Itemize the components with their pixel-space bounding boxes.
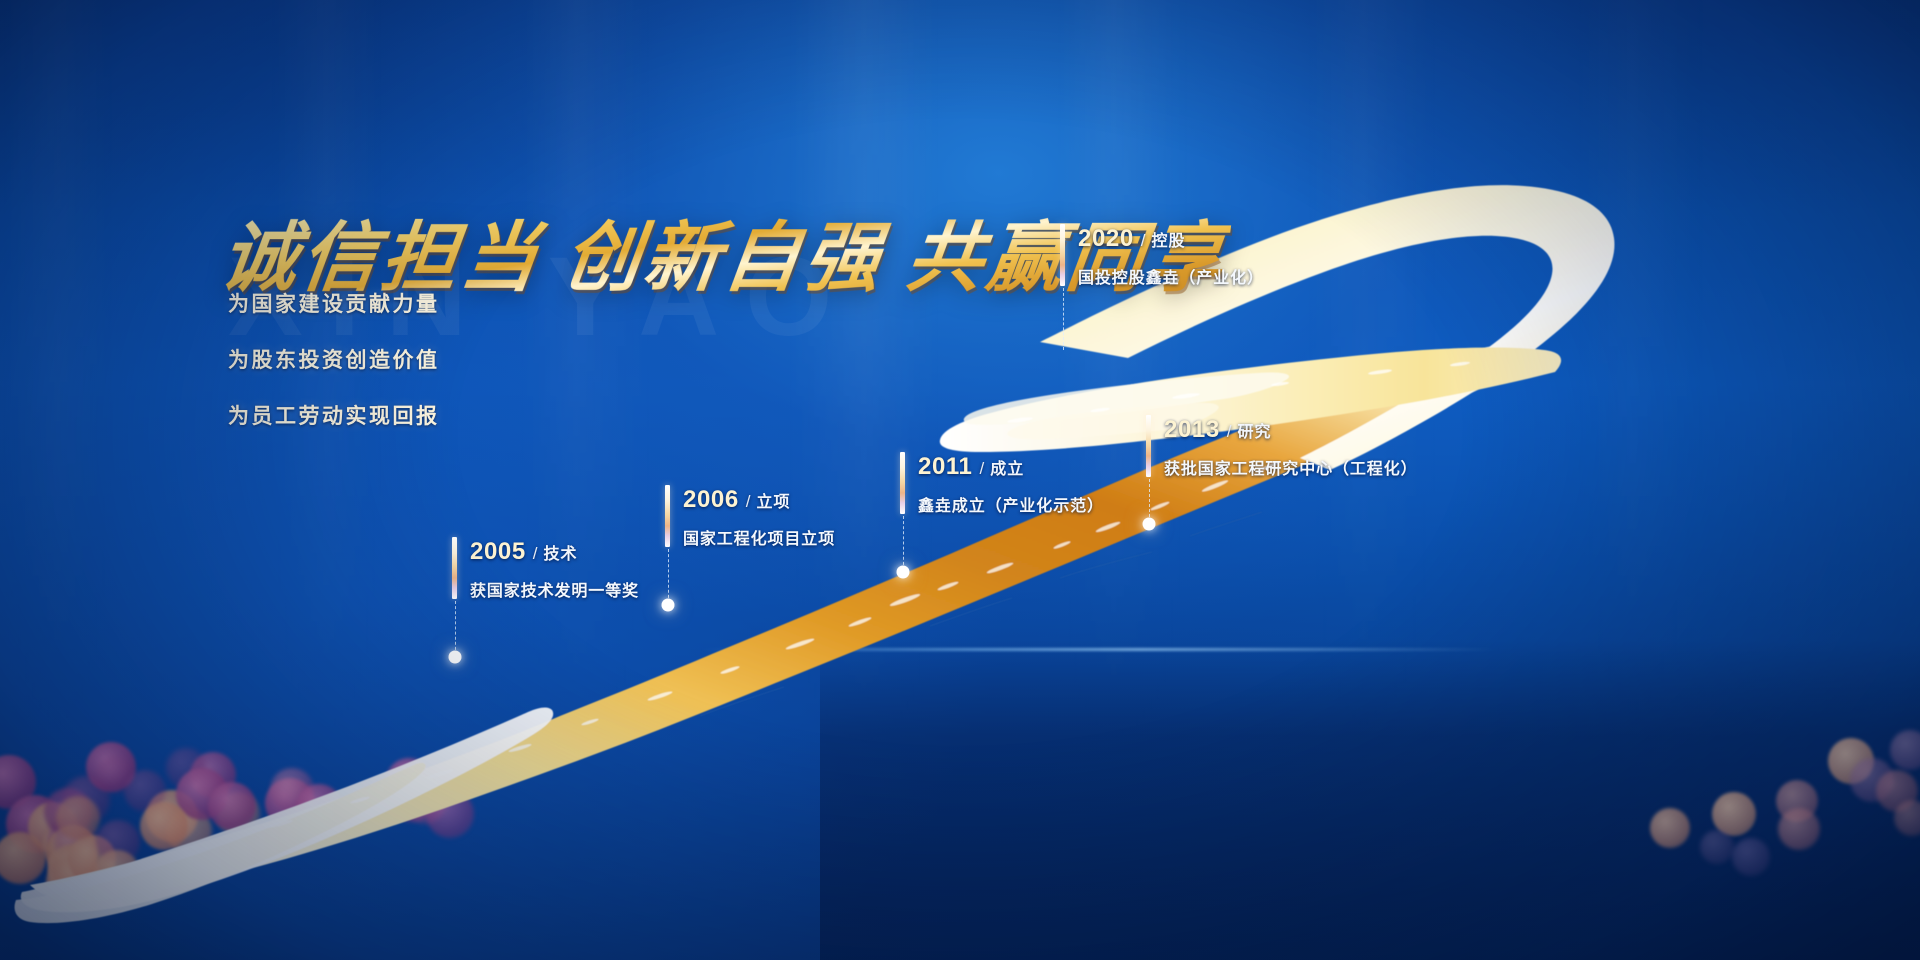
milestone-category: 技术 bbox=[544, 540, 578, 564]
milestone-accent-bar bbox=[900, 452, 905, 514]
milestone-separator: / bbox=[746, 492, 751, 512]
bokeh-circle bbox=[270, 768, 314, 812]
bokeh-circle bbox=[166, 748, 206, 788]
bokeh-circle bbox=[56, 796, 100, 840]
bokeh-circle bbox=[1876, 770, 1918, 812]
milestone-separator: / bbox=[533, 544, 538, 564]
milestone-category: 立项 bbox=[757, 488, 791, 512]
milestone-dot-2005[interactable] bbox=[449, 651, 462, 664]
milestone-2013[interactable]: 2013 / 研究 获批国家工程研究中心（工程化） bbox=[1146, 415, 1418, 479]
bokeh-circle bbox=[0, 755, 36, 809]
milestone-accent-bar bbox=[1060, 224, 1065, 286]
milestone-connector-2020 bbox=[1063, 288, 1064, 350]
bokeh-circle bbox=[1850, 758, 1894, 802]
milestone-text-block: 2005 / 技术 获国家技术发明一等奖 bbox=[470, 537, 639, 601]
bokeh-circle bbox=[190, 752, 236, 798]
bokeh-circle bbox=[96, 756, 134, 794]
bokeh-circle bbox=[96, 820, 140, 864]
milestone-description: 获批国家工程研究中心（工程化） bbox=[1164, 455, 1418, 479]
bokeh-circle bbox=[426, 790, 474, 838]
bokeh-circle bbox=[1778, 808, 1820, 850]
milestone-2005[interactable]: 2005 / 技术 获国家技术发明一等奖 bbox=[452, 537, 639, 601]
milestone-header: 2011 / 成立 鑫垚成立（产业化示范） bbox=[900, 452, 1104, 516]
bokeh-circle bbox=[1776, 780, 1818, 822]
bokeh-circle bbox=[46, 826, 98, 878]
milestone-year: 2011 bbox=[918, 453, 972, 481]
milestone-year-row: 2005 / 技术 bbox=[470, 538, 639, 566]
bokeh-circle bbox=[296, 784, 342, 830]
milestone-dot-2011[interactable] bbox=[897, 566, 910, 579]
bokeh-circle bbox=[265, 778, 315, 828]
milestone-text-block: 2006 / 立项 国家工程化项目立项 bbox=[683, 485, 835, 549]
milestone-connector-2005 bbox=[455, 601, 456, 655]
milestone-description: 国投控股鑫垚（产业化） bbox=[1078, 264, 1264, 288]
milestone-header: 2005 / 技术 获国家技术发明一等奖 bbox=[452, 537, 639, 601]
bokeh-circle bbox=[140, 802, 188, 850]
bokeh-circle bbox=[28, 802, 78, 852]
bokeh-circle bbox=[1890, 730, 1920, 770]
bokeh-circle bbox=[86, 742, 136, 792]
bokeh-circle bbox=[390, 778, 434, 822]
subtitle-line: 为股东投资创造价值 bbox=[228, 344, 440, 374]
milestone-category: 成立 bbox=[990, 455, 1024, 479]
bokeh-circle bbox=[1650, 808, 1690, 848]
milestone-2006[interactable]: 2006 / 立项 国家工程化项目立项 bbox=[665, 485, 835, 549]
bokeh-circle bbox=[6, 795, 64, 853]
bokeh-circle bbox=[68, 835, 116, 883]
milestone-separator: / bbox=[1227, 422, 1232, 442]
milestone-2020[interactable]: 2020 / 控股 国投控股鑫垚（产业化） bbox=[1060, 224, 1264, 288]
milestone-text-block: 2011 / 成立 鑫垚成立（产业化示范） bbox=[918, 452, 1104, 516]
milestone-year-row: 2013 / 研究 bbox=[1164, 416, 1418, 444]
bokeh-circle bbox=[54, 855, 100, 901]
bokeh-circle bbox=[176, 768, 228, 820]
milestone-year-row: 2011 / 成立 bbox=[918, 453, 1104, 481]
bokeh-circle bbox=[216, 792, 260, 836]
bokeh-circle bbox=[0, 832, 46, 884]
milestone-accent-bar bbox=[665, 485, 670, 547]
bokeh-circle bbox=[42, 822, 88, 868]
subtitle-line: 为国家建设贡献力量 bbox=[228, 288, 440, 318]
bokeh-circle bbox=[208, 782, 256, 830]
bokeh-circle bbox=[1712, 792, 1756, 836]
bokeh-circle bbox=[1894, 800, 1920, 836]
milestone-year: 2006 bbox=[683, 486, 739, 514]
milestone-year: 2020 bbox=[1078, 225, 1134, 253]
bokeh-circle bbox=[1732, 838, 1770, 876]
milestone-category: 研究 bbox=[1238, 418, 1272, 442]
bokeh-circle bbox=[54, 818, 98, 862]
milestone-description: 国家工程化项目立项 bbox=[683, 525, 835, 549]
bokeh-circle bbox=[1700, 830, 1734, 864]
milestone-connector-2006 bbox=[668, 549, 669, 603]
bokeh-circle bbox=[1828, 738, 1874, 784]
subtitle-list: 为国家建设贡献力量 为股东投资创造价值 为员工劳动实现回报 bbox=[228, 288, 440, 456]
bokeh-circle bbox=[94, 850, 140, 896]
milestone-header: 2020 / 控股 国投控股鑫垚（产业化） bbox=[1060, 224, 1264, 288]
milestone-separator: / bbox=[979, 459, 984, 479]
bokeh-circle bbox=[62, 776, 110, 824]
milestone-2011[interactable]: 2011 / 成立 鑫垚成立（产业化示范） bbox=[900, 452, 1104, 516]
bokeh-circle bbox=[46, 856, 98, 908]
milestone-accent-bar bbox=[452, 537, 457, 599]
bokeh-circle bbox=[386, 758, 432, 804]
background-dark-band bbox=[820, 640, 1920, 960]
bokeh-circle bbox=[146, 790, 198, 842]
horizon-glow-line bbox=[700, 648, 1500, 651]
milestone-dot-2013[interactable] bbox=[1143, 518, 1156, 531]
bokeh-circle bbox=[124, 770, 166, 812]
bokeh-circle bbox=[404, 782, 446, 824]
milestone-separator: / bbox=[1141, 231, 1146, 251]
poster-stage: XIN YAO 诚信担当 创新自强 共赢同享 为国家建设贡献力量 为股东投资创造… bbox=[0, 0, 1920, 960]
bokeh-circle bbox=[50, 825, 96, 871]
milestone-year-row: 2020 / 控股 bbox=[1078, 225, 1264, 253]
milestone-header: 2006 / 立项 国家工程化项目立项 bbox=[665, 485, 835, 549]
milestone-connector-2013 bbox=[1149, 479, 1150, 522]
milestone-description: 鑫垚成立（产业化示范） bbox=[918, 492, 1104, 516]
bokeh-circle bbox=[166, 808, 212, 854]
bokeh-circle bbox=[52, 845, 96, 889]
bokeh-circle bbox=[44, 788, 92, 836]
bokeh-circle bbox=[48, 840, 98, 890]
milestone-dot-2006[interactable] bbox=[662, 599, 675, 612]
milestone-year: 2005 bbox=[470, 538, 526, 566]
milestone-text-block: 2020 / 控股 国投控股鑫垚（产业化） bbox=[1078, 224, 1264, 288]
subtitle-line: 为员工劳动实现回报 bbox=[228, 400, 440, 430]
milestone-category: 控股 bbox=[1152, 227, 1186, 251]
milestone-year-row: 2006 / 立项 bbox=[683, 486, 835, 514]
milestone-text-block: 2013 / 研究 获批国家工程研究中心（工程化） bbox=[1164, 415, 1418, 479]
milestone-accent-bar bbox=[1146, 415, 1151, 477]
milestone-description: 获国家技术发明一等奖 bbox=[470, 577, 639, 601]
bokeh-circle bbox=[48, 818, 88, 858]
milestone-connector-2011 bbox=[903, 516, 904, 570]
milestone-header: 2013 / 研究 获批国家工程研究中心（工程化） bbox=[1146, 415, 1418, 479]
bokeh-circle bbox=[48, 845, 94, 891]
bokeh-circle bbox=[48, 862, 96, 910]
milestone-year: 2013 bbox=[1164, 416, 1220, 444]
